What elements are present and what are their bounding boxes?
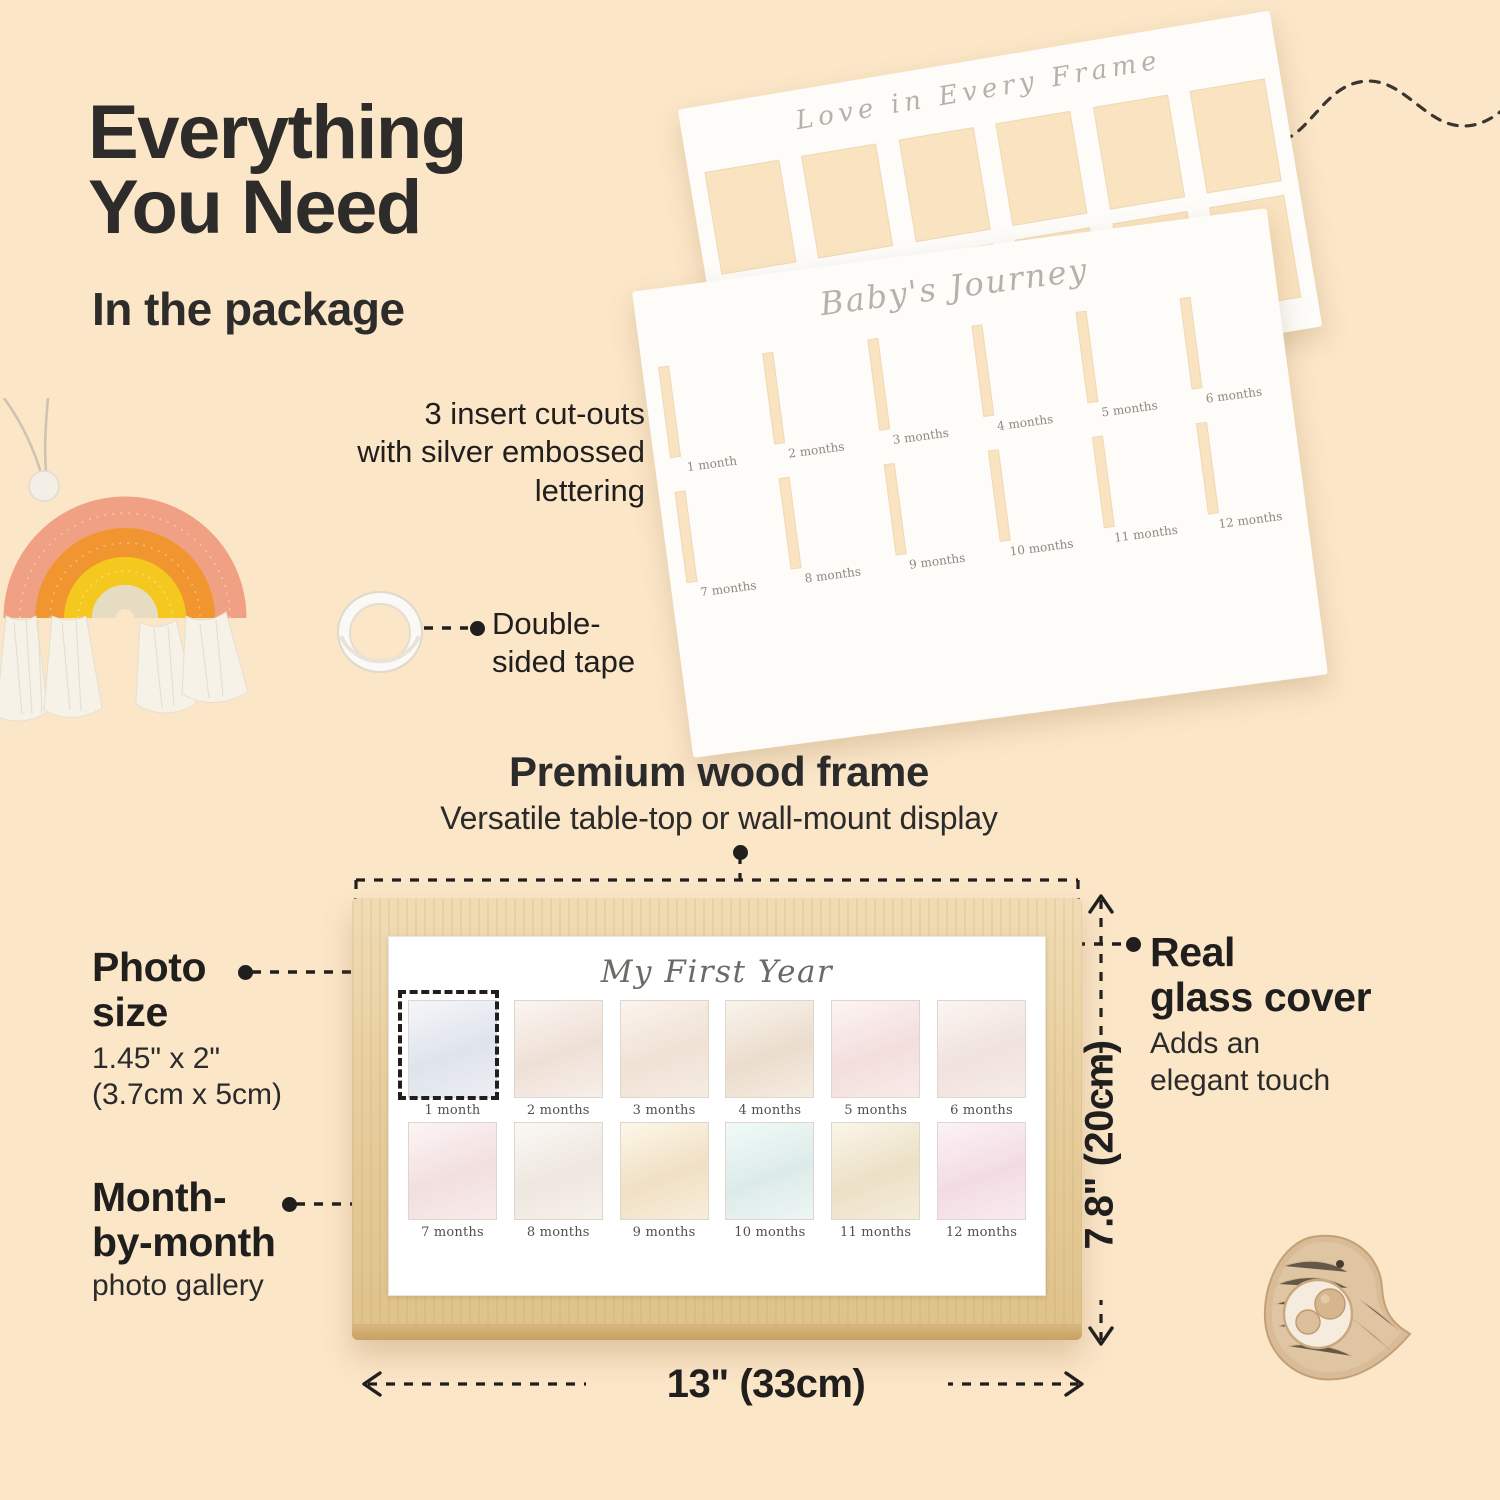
cutout-cell: 6 months bbox=[1180, 288, 1275, 408]
cutout-caption: 1 month bbox=[671, 452, 754, 477]
photo-size-highlight-box bbox=[398, 990, 499, 1100]
cutout-caption: 5 months bbox=[1088, 397, 1171, 422]
photo-caption: 1 month bbox=[408, 1103, 497, 1118]
photo-cell: 2 months bbox=[514, 1000, 603, 1118]
callout-photo-size-line2: size bbox=[92, 990, 342, 1035]
callout-photo-size: Photo size 1.45" x 2" (3.7cm x 5cm) bbox=[92, 945, 342, 1113]
photo-cell: 4 months bbox=[725, 1000, 814, 1118]
callout-month-by-month: Month- by-month photo gallery bbox=[92, 1175, 352, 1303]
callout-month-line1: Month- bbox=[92, 1175, 352, 1220]
cutout bbox=[1190, 78, 1282, 193]
cutout-cell: 10 months bbox=[988, 440, 1083, 560]
cutout-cell: 11 months bbox=[1092, 426, 1187, 546]
insert-card-front: Baby's Journey 1 month 2 months 3 months… bbox=[632, 208, 1328, 758]
photo-caption: 10 months bbox=[725, 1225, 814, 1240]
callout-photo-size-line1: Photo bbox=[92, 945, 342, 990]
callout-insert-line3: lettering bbox=[300, 472, 645, 510]
dimension-width-label: 13" (33cm) bbox=[667, 1362, 866, 1407]
photo-caption: 12 months bbox=[937, 1225, 1026, 1240]
cutout bbox=[883, 463, 906, 556]
cutout-cell: 12 months bbox=[1197, 413, 1292, 533]
cutout bbox=[1092, 95, 1184, 210]
callout-frame-subtitle: Versatile table-top or wall-mount displa… bbox=[404, 800, 1034, 837]
cutout-cell: 7 months bbox=[675, 481, 770, 601]
baby-photo bbox=[831, 1122, 920, 1220]
photo-cell: 6 months bbox=[937, 1000, 1026, 1118]
cutout bbox=[1197, 422, 1220, 515]
photo-cell: 3 months bbox=[620, 1000, 709, 1118]
photo-cell: 7 months bbox=[408, 1122, 497, 1240]
callout-dot-glass bbox=[1126, 937, 1141, 952]
wood-photo-frame: My First Year 1 month 2 months 3 months … bbox=[352, 898, 1082, 1340]
page-title-line2: You Need bbox=[88, 170, 728, 245]
baby-photo bbox=[514, 1000, 603, 1098]
photo-cell: 11 months bbox=[831, 1122, 920, 1240]
infographic-canvas: Everything You Need In the package bbox=[0, 0, 1500, 1500]
callout-glass-sub1: Adds an bbox=[1150, 1026, 1450, 1063]
cutout bbox=[675, 491, 698, 584]
callout-month-sub: photo gallery bbox=[92, 1269, 352, 1303]
photo-caption: 9 months bbox=[620, 1225, 709, 1240]
callout-insert-line2: with silver embossed bbox=[300, 433, 645, 471]
photo-caption: 7 months bbox=[408, 1225, 497, 1240]
photo-caption: 2 months bbox=[514, 1103, 603, 1118]
cutout bbox=[971, 324, 994, 417]
photo-row-2: 7 months 8 months 9 months 10 months 11 … bbox=[402, 1122, 1032, 1240]
baby-photo bbox=[831, 1000, 920, 1098]
cutout bbox=[1092, 436, 1115, 529]
callout-glass-cover: Real glass cover Adds an elegant touch bbox=[1150, 930, 1450, 1099]
cutout bbox=[995, 111, 1087, 226]
photo-caption: 4 months bbox=[725, 1103, 814, 1118]
baby-photo bbox=[514, 1122, 603, 1220]
double-sided-tape-roll bbox=[334, 588, 426, 676]
cutout bbox=[763, 352, 786, 445]
cutout bbox=[988, 449, 1011, 542]
cutout-cell: 9 months bbox=[883, 454, 978, 574]
callout-photo-size-sub1: 1.45" x 2" bbox=[92, 1041, 342, 1077]
callout-glass-sub2: elegant touch bbox=[1150, 1063, 1450, 1100]
cutout bbox=[779, 477, 802, 570]
cutout-caption: 9 months bbox=[896, 549, 979, 574]
cutout-caption: 6 months bbox=[1193, 383, 1276, 408]
callout-glass-line1: Real bbox=[1150, 930, 1450, 975]
cutout-cell: 1 month bbox=[658, 356, 753, 476]
baby-photo bbox=[937, 1122, 1026, 1220]
callout-month-line2: by-month bbox=[92, 1220, 352, 1265]
macrame-rainbow bbox=[0, 398, 290, 728]
callout-glass-line2: glass cover bbox=[1150, 975, 1450, 1020]
photo-caption: 5 months bbox=[831, 1103, 920, 1118]
cutout bbox=[1076, 311, 1099, 404]
baby-photo bbox=[725, 1122, 814, 1220]
cutout-cell: 5 months bbox=[1076, 301, 1171, 421]
callout-insert-cutouts: 3 insert cut-outs with silver embossed l… bbox=[300, 395, 645, 510]
page-title: Everything You Need bbox=[88, 95, 728, 245]
callout-dot-tape bbox=[470, 621, 485, 636]
photo-cell: 8 months bbox=[514, 1122, 603, 1240]
cutout-caption: 12 months bbox=[1209, 508, 1292, 533]
cutout bbox=[658, 366, 681, 459]
cutout-cell: 3 months bbox=[867, 329, 962, 449]
baby-photo bbox=[620, 1122, 709, 1220]
cutout bbox=[867, 338, 890, 431]
cutout-caption: 3 months bbox=[879, 424, 962, 449]
cutout-caption: 4 months bbox=[984, 410, 1067, 435]
callout-wood-frame: Premium wood frame Versatile table-top o… bbox=[404, 748, 1034, 837]
cutout-cell: 8 months bbox=[779, 468, 874, 588]
cutout-caption: 11 months bbox=[1105, 522, 1188, 547]
photo-caption: 3 months bbox=[620, 1103, 709, 1118]
wooden-bird-teether bbox=[1248, 1222, 1423, 1397]
baby-photo bbox=[725, 1000, 814, 1098]
cutout-cell: 4 months bbox=[971, 315, 1066, 435]
cutout-caption: 10 months bbox=[1000, 535, 1083, 560]
callout-photo-size-sub2: (3.7cm x 5cm) bbox=[92, 1077, 342, 1113]
cutout-caption: 7 months bbox=[687, 576, 770, 601]
photo-cell: 9 months bbox=[620, 1122, 709, 1240]
baby-photo bbox=[620, 1000, 709, 1098]
cutout bbox=[898, 127, 990, 242]
cutout-caption: 2 months bbox=[775, 438, 858, 463]
baby-photo bbox=[937, 1000, 1026, 1098]
callout-dot-month bbox=[282, 1197, 297, 1212]
cutout-caption: 8 months bbox=[791, 563, 874, 588]
callout-insert-line1: 3 insert cut-outs bbox=[300, 395, 645, 433]
cutout bbox=[801, 143, 893, 258]
photo-caption: 11 months bbox=[831, 1225, 920, 1240]
cutout bbox=[704, 160, 796, 275]
baby-photo bbox=[408, 1122, 497, 1220]
photo-cell: 10 months bbox=[725, 1122, 814, 1240]
page-title-line1: Everything bbox=[88, 95, 728, 170]
cutout bbox=[1180, 297, 1203, 390]
callout-dot-frame bbox=[733, 845, 748, 860]
cutout-cell: 2 months bbox=[763, 343, 858, 463]
dimension-height-label: 7.8" (20cm) bbox=[1078, 1040, 1123, 1249]
photo-cell: 12 months bbox=[937, 1122, 1026, 1240]
callout-frame-title: Premium wood frame bbox=[404, 748, 1034, 796]
frame-matte: My First Year 1 month 2 months 3 months … bbox=[388, 936, 1046, 1296]
photo-caption: 6 months bbox=[937, 1103, 1026, 1118]
photo-caption: 8 months bbox=[514, 1225, 603, 1240]
matte-title: My First Year bbox=[402, 954, 1032, 990]
callout-dot-photo-size bbox=[238, 965, 253, 980]
photo-cell: 5 months bbox=[831, 1000, 920, 1118]
